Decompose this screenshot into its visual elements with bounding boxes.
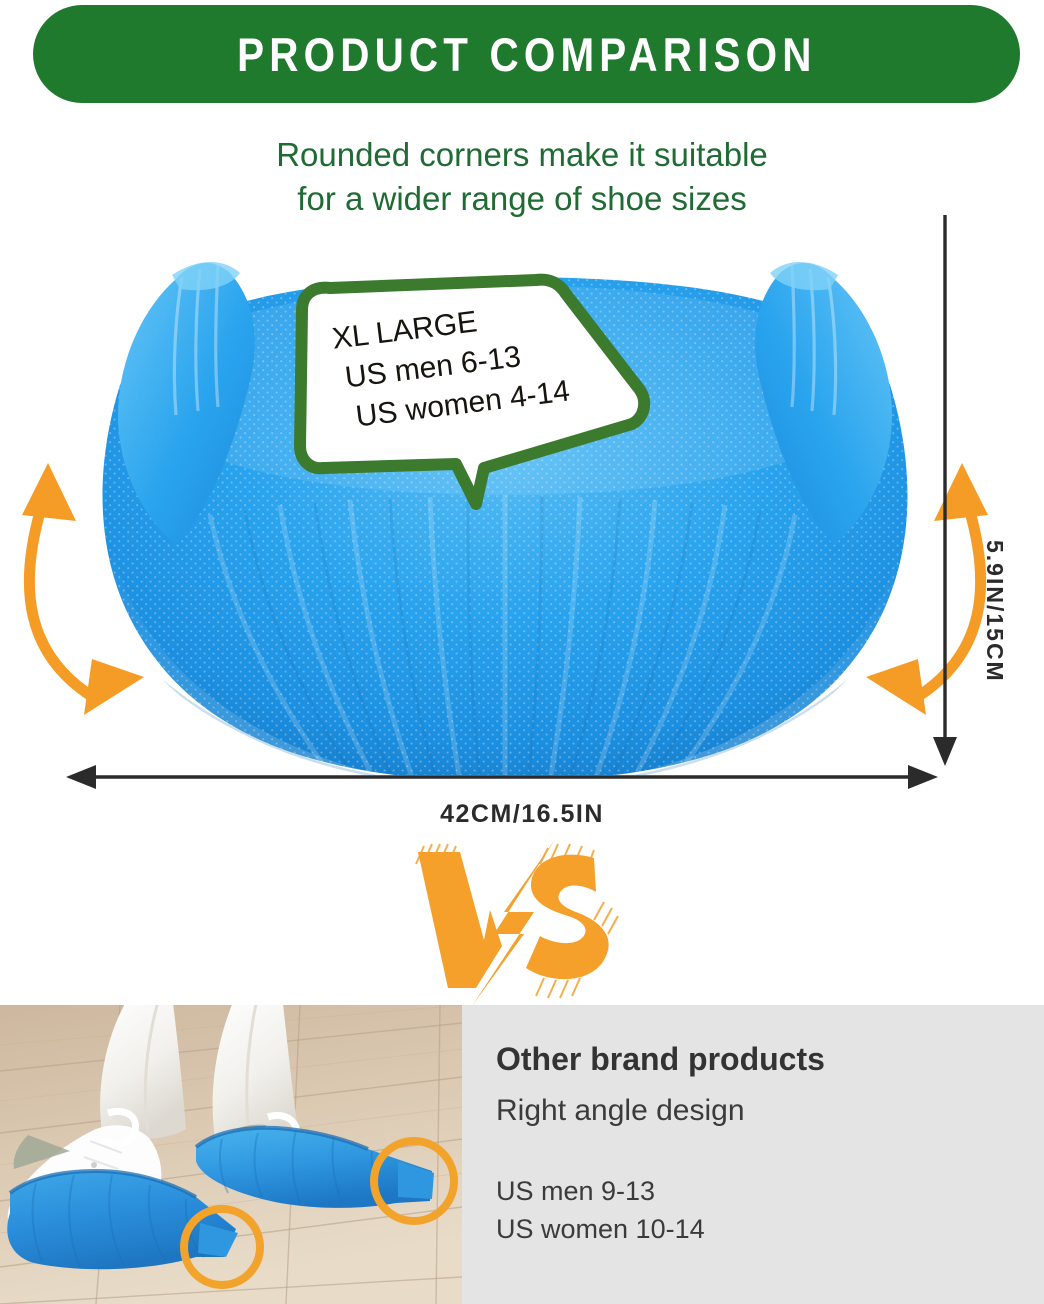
other-brand-title: Other brand products [496,1041,1044,1078]
width-dimension-arrow [0,760,1044,800]
height-dimension-label: 5.9IN/15CM [981,540,1008,683]
vs-logo-icon [398,838,648,1006]
other-brand-photo [0,1005,462,1304]
shoes-on-floor-photo [0,1005,462,1304]
width-dimension-label: 42CM/16.5IN [0,800,1044,829]
other-brand-comparison: Other brand products Right angle design … [0,1005,1044,1304]
other-brand-size-women: US women 10-14 [496,1210,1044,1248]
size-callout-bubble: XL LARGE US men 6-13 US women 4-14 [288,272,688,522]
subtitle-line-1: Rounded corners make it suitable [276,136,768,173]
other-brand-info-panel: Other brand products Right angle design … [462,1005,1044,1304]
header-banner: PRODUCT COMPARISON [33,5,1020,103]
other-brand-subtitle: Right angle design [496,1094,1044,1128]
vs-divider [398,838,648,1006]
subtitle: Rounded corners make it suitable for a w… [0,133,1044,221]
other-brand-size-men: US men 9-13 [496,1172,1044,1210]
page-title: PRODUCT COMPARISON [237,27,816,82]
